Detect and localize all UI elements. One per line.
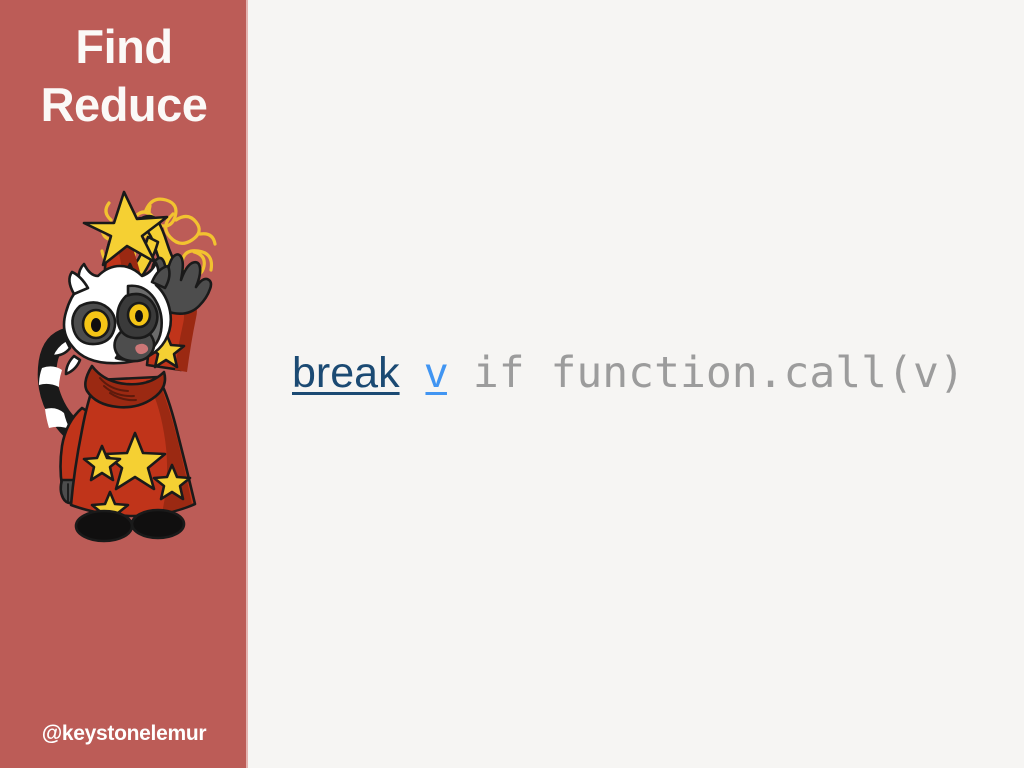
code-space-1: [400, 348, 426, 398]
code-snippet: break v if function.call(v): [292, 352, 965, 395]
code-rest: if function.call(v): [447, 348, 965, 398]
main-content: break v if function.call(v): [248, 0, 1024, 768]
code-keyword: break: [292, 349, 400, 397]
sidebar: Find Reduce: [0, 0, 248, 768]
page-title-line-2: Reduce: [0, 76, 248, 134]
slide: Find Reduce: [0, 0, 1024, 768]
code-variable: v: [425, 349, 447, 397]
page-title: Find Reduce: [0, 18, 248, 134]
author-handle: @keystonelemur: [0, 722, 248, 746]
page-title-line-1: Find: [0, 18, 248, 76]
lemur-wizard-mascot: [18, 190, 236, 552]
